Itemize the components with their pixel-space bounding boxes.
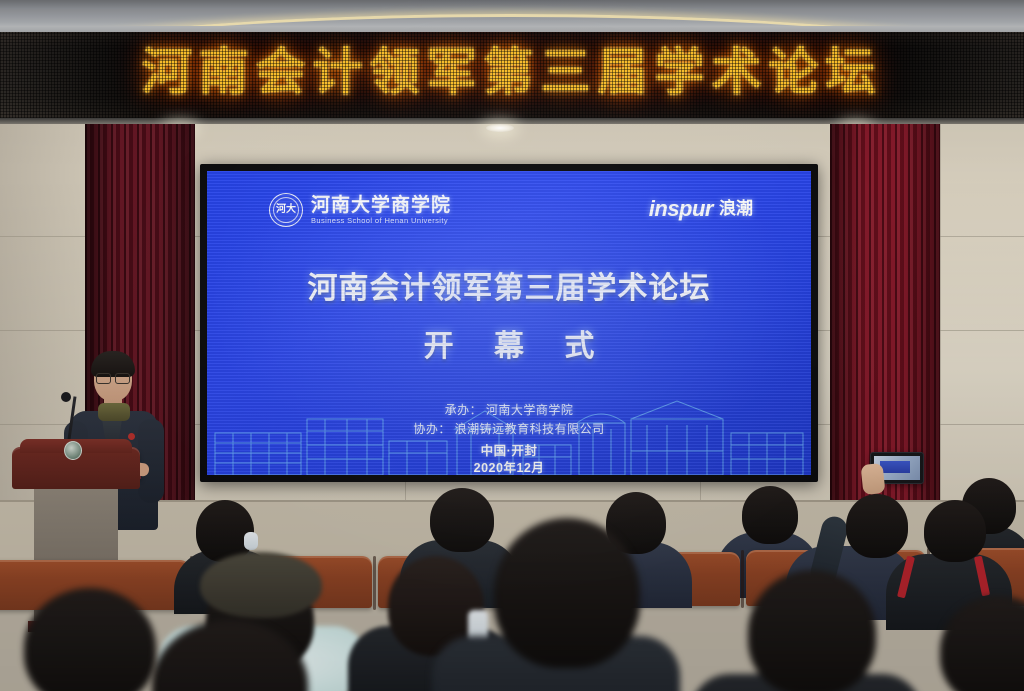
auditorium-photo: 河南会计领军第三届学术论坛 bbox=[0, 0, 1024, 691]
slide-subtitle: 开 幕 式 bbox=[207, 329, 811, 365]
photographer-hand bbox=[860, 463, 885, 495]
seat-divider bbox=[741, 550, 744, 608]
sponsor-name-cn: 浪潮 bbox=[719, 199, 753, 219]
attendee-back-left-head bbox=[742, 486, 798, 544]
attendee-mid-head bbox=[430, 488, 494, 552]
sponsor-logo: inspur 浪潮 bbox=[649, 197, 753, 221]
slide-location-date: 中国·开封 2020年12月 bbox=[207, 443, 811, 475]
attendee-front-right-head bbox=[748, 570, 876, 691]
beret-hat bbox=[200, 552, 322, 618]
slide-title: 河南会计领军第三届学术论坛 bbox=[207, 271, 811, 307]
speaker-lapel-badge bbox=[128, 433, 135, 440]
attendee-large-head bbox=[494, 518, 640, 668]
school-logo: 河大 河南大学商学院 Business School of Henan Univ… bbox=[269, 193, 451, 227]
school-name-cn: 河南大学商学院 bbox=[311, 195, 451, 216]
wall-seam bbox=[940, 124, 941, 516]
presentation-screen-bezel: 河大 河南大学商学院 Business School of Henan Univ… bbox=[200, 164, 818, 482]
school-name-en: Business School of Henan University bbox=[311, 216, 451, 226]
university-seal-icon: 河大 bbox=[269, 193, 303, 227]
led-banner: 河南会计领军第三届学术论坛 bbox=[0, 32, 1024, 118]
photographer-head bbox=[846, 494, 908, 558]
seal-glyph: 河大 bbox=[270, 205, 302, 215]
seat-divider bbox=[373, 556, 376, 610]
speaker-scarf bbox=[98, 403, 130, 421]
co-organizer-line: 协办： 浪潮铸远教育科技有限公司 bbox=[207, 420, 811, 439]
organizer-line: 承办： 河南大学商学院 bbox=[207, 401, 811, 420]
speaker-right-arm bbox=[138, 419, 164, 503]
presentation-slide: 河大 河南大学商学院 Business School of Henan Univ… bbox=[207, 171, 811, 475]
sponsor-name-en: inspur bbox=[649, 197, 713, 221]
microphone-head bbox=[61, 392, 71, 402]
slide-location: 中国·开封 bbox=[207, 443, 811, 460]
speaker-glasses bbox=[96, 373, 130, 382]
ceiling-downlight bbox=[486, 124, 514, 132]
face-mask bbox=[244, 532, 258, 550]
slide-date: 2020年12月 bbox=[207, 460, 811, 475]
slide-organizers: 承办： 河南大学商学院 协办： 浪潮铸远教育科技有限公司 bbox=[207, 401, 811, 439]
lanyard-attendee-head bbox=[924, 500, 986, 562]
led-banner-text: 河南会计领军第三届学术论坛 bbox=[0, 41, 1024, 103]
podium-emblem-icon bbox=[64, 441, 82, 460]
